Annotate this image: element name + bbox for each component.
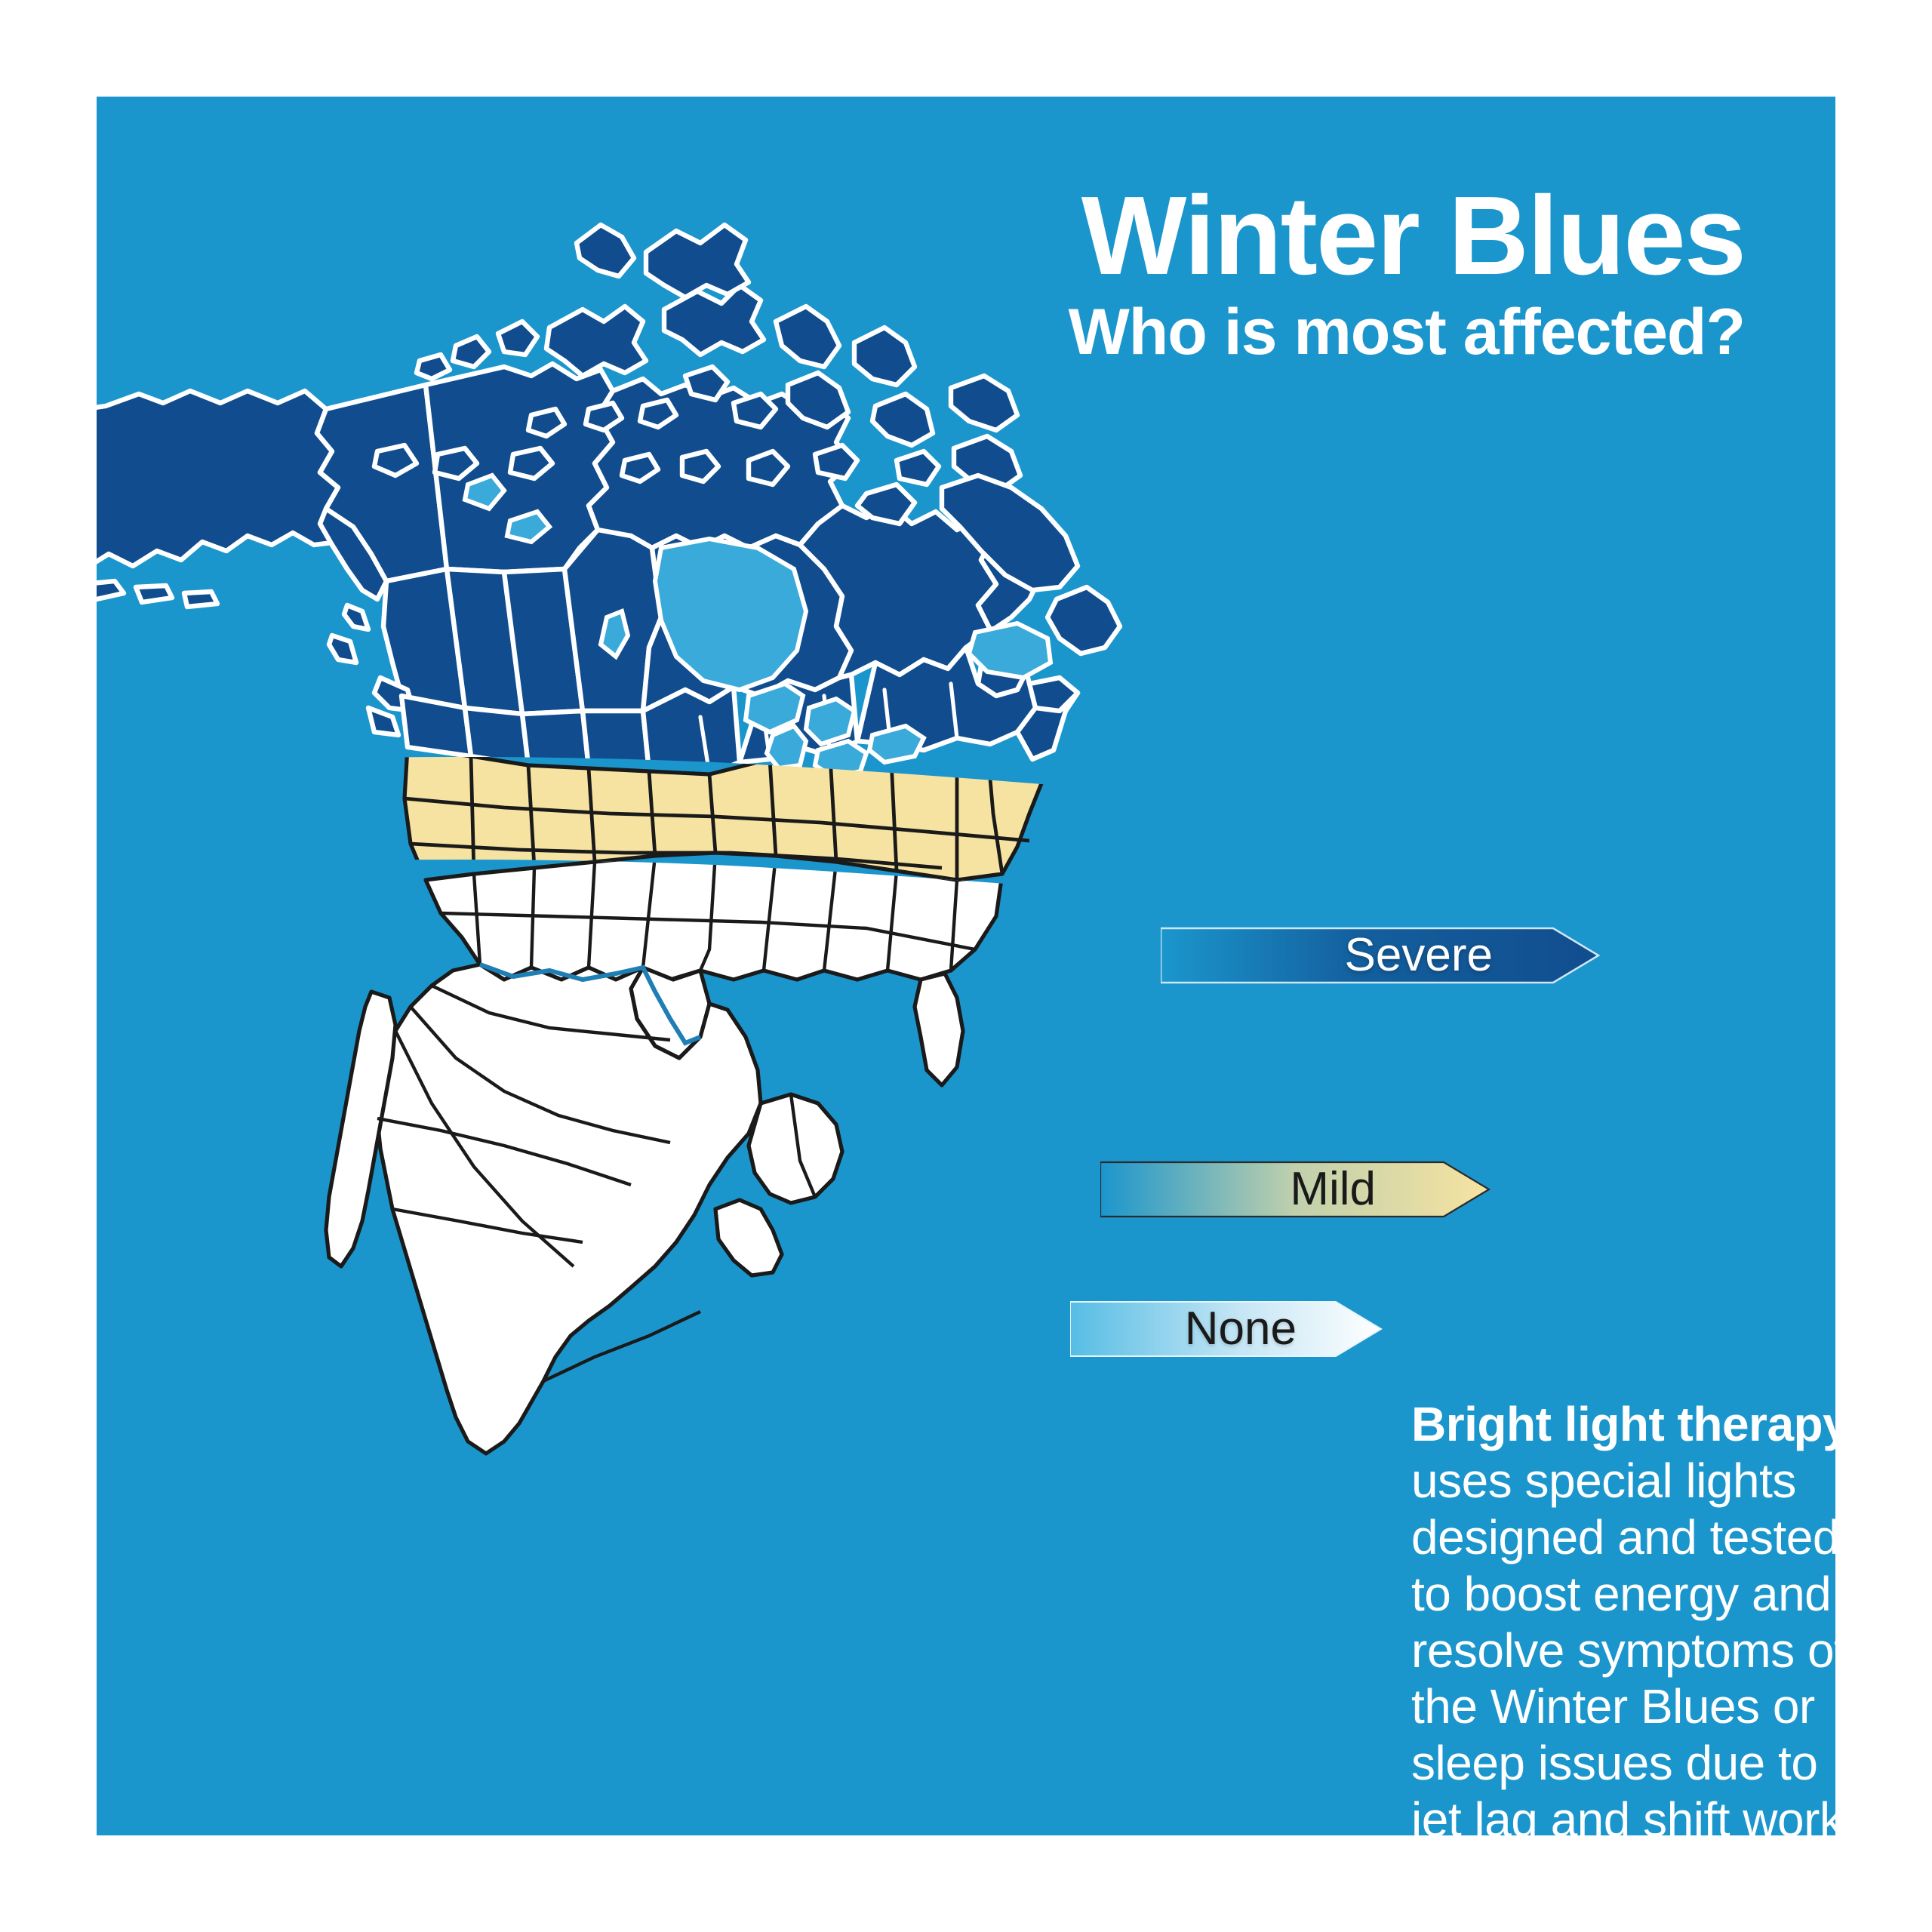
body-copy: Bright light therapy uses special lights…: [1411, 1396, 1835, 1835]
page-subtitle: Who is most affected?: [1069, 297, 1745, 368]
legend-item-severe[interactable]: Severe: [1161, 919, 1606, 992]
legend-label-none: None: [1185, 1293, 1297, 1365]
map-region-severe: [97, 225, 1120, 777]
blue-panel: Winter Blues Who is most affected? Sever…: [97, 97, 1835, 1835]
infographic-canvas: Winter Blues Who is most affected? Sever…: [0, 0, 1932, 1932]
legend-label-mild: Mild: [1290, 1153, 1376, 1226]
legend-item-mild[interactable]: Mild: [1100, 1153, 1497, 1226]
body-lead: Bright light therapy: [1411, 1397, 1835, 1451]
page-title: Winter Blues: [1069, 180, 1745, 294]
body-rest: uses special lights designed and tested …: [1411, 1454, 1835, 1835]
map-region-none: [326, 853, 1002, 1454]
legend-item-none[interactable]: None: [1070, 1293, 1387, 1365]
title-block: Winter Blues Who is most affected?: [1069, 180, 1745, 368]
legend-label-severe: Severe: [1345, 919, 1493, 992]
